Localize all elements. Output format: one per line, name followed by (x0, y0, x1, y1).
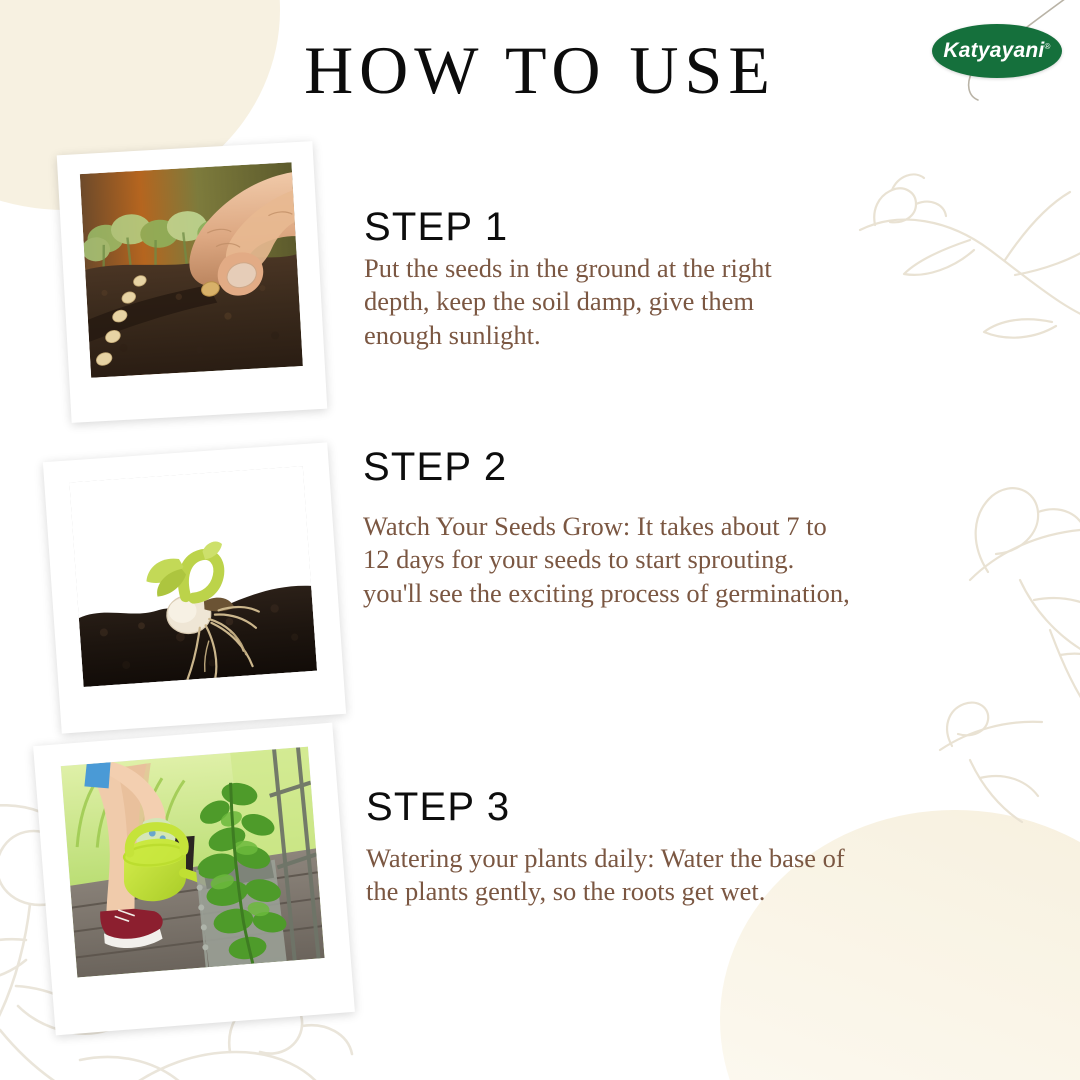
trademark-icon: ® (1044, 42, 1050, 51)
brand-logo: Katyayani® (932, 24, 1062, 78)
step-2-body: Watch Your Seeds Grow: It takes about 7 … (363, 510, 1003, 610)
step-3-title: STEP 3 (366, 786, 996, 828)
step-block-3: STEP 3 Watering your plants daily: Water… (366, 786, 996, 909)
step-block-2: STEP 2 Watch Your Seeds Grow: It takes a… (363, 446, 1003, 610)
photo-step-1 (80, 162, 303, 378)
step-1-title: STEP 1 (364, 206, 924, 248)
polaroid-frame-step-3 (33, 723, 355, 1036)
polaroid-frame-step-1 (57, 141, 328, 423)
step-2-title: STEP 2 (363, 446, 1003, 488)
step-block-1: STEP 1 Put the seeds in the ground at th… (364, 206, 924, 352)
page-title: HOW TO USE (0, 36, 1080, 104)
step-1-body: Put the seeds in the ground at the right… (364, 252, 924, 352)
photo-step-2 (69, 466, 317, 687)
step-3-body: Watering your plants daily: Water the ba… (366, 842, 996, 909)
poster-canvas: HOW TO USE Katyayani® (0, 0, 1080, 1080)
brand-logo-name: Katyayani (943, 39, 1044, 62)
photo-step-3 (61, 747, 325, 978)
polaroid-frame-step-2 (43, 442, 346, 733)
brand-logo-text: Katyayani® (943, 39, 1050, 63)
